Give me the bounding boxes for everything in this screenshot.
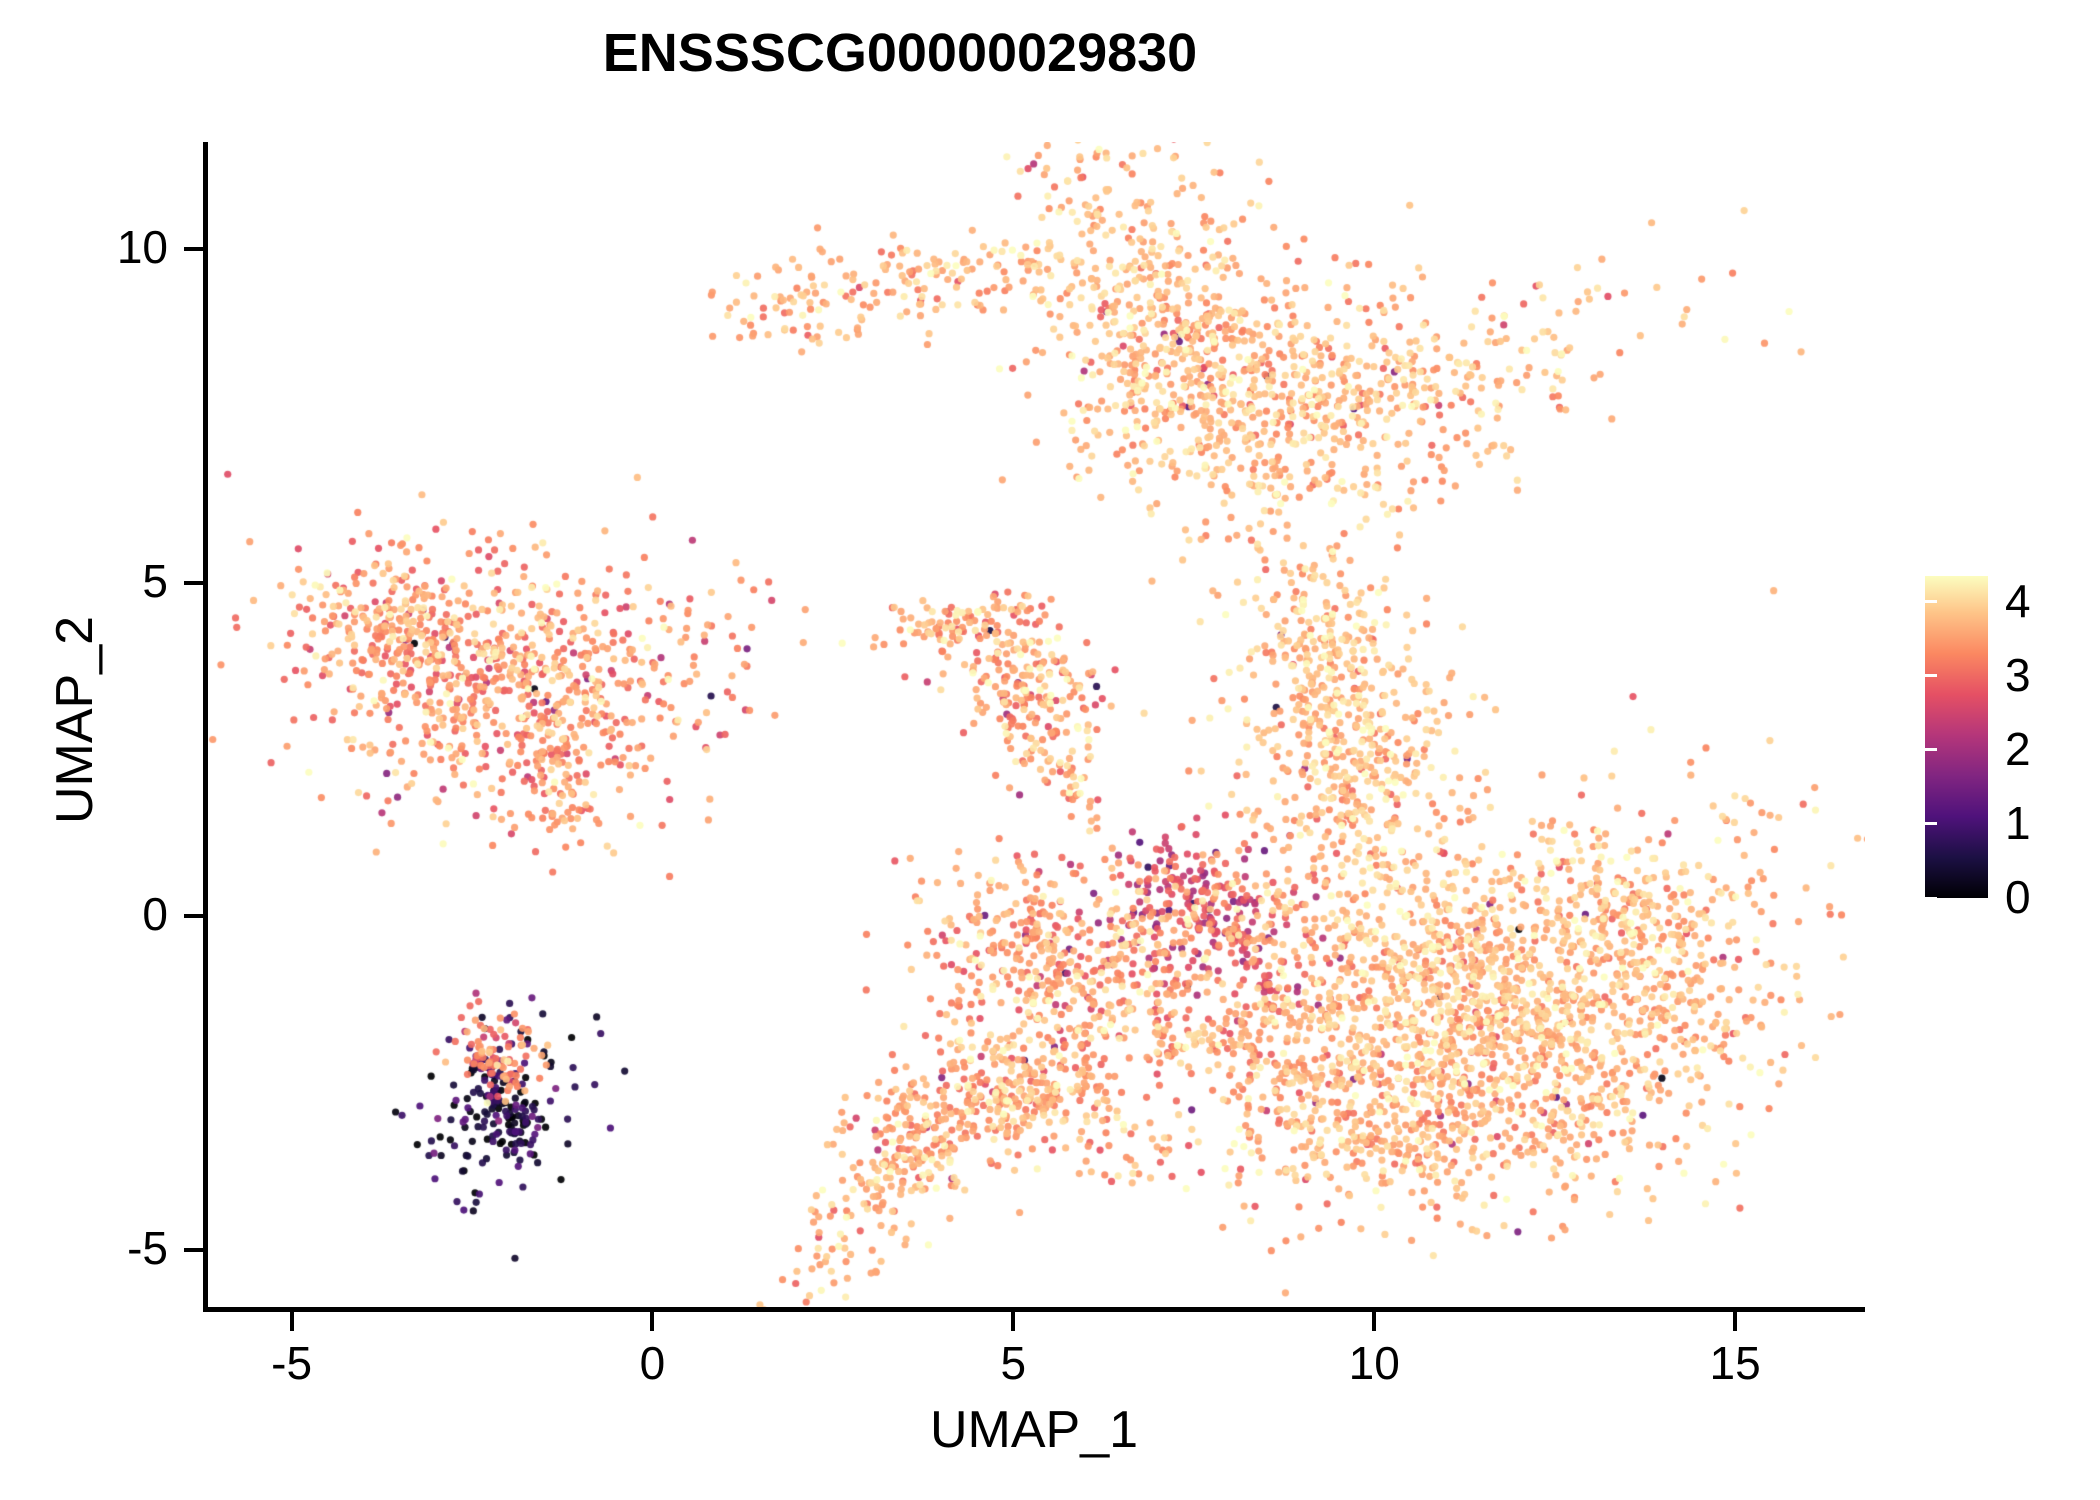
x-tick-label: -5 <box>212 1336 372 1390</box>
y-tick-mark <box>184 1248 203 1252</box>
y-tick-label: 10 <box>0 220 168 274</box>
x-axis-line <box>203 1307 1865 1312</box>
y-axis-line <box>203 142 208 1312</box>
plot-panel <box>205 142 1865 1310</box>
colorbar-tick-mark <box>2073 822 2085 825</box>
x-tick-label: 0 <box>572 1336 732 1390</box>
chart-page: ENSSSCG00000029830 -5051015 -50510 UMAP_… <box>0 0 2100 1500</box>
y-tick-mark <box>184 247 203 251</box>
colorbar-tick-mark <box>2073 600 2085 603</box>
colorbar-tick-mark <box>2073 674 2085 677</box>
x-axis-label: UMAP_1 <box>203 1400 1865 1460</box>
x-tick-label: 15 <box>1655 1336 1815 1390</box>
colorbar-gradient <box>1925 576 1988 898</box>
y-tick-label: -5 <box>0 1221 168 1275</box>
y-axis-label: UMAP_2 <box>45 370 105 1070</box>
colorbar-tick-mark <box>1925 822 1937 825</box>
colorbar-tick-label: 4 <box>2005 578 2031 624</box>
colorbar-tick-label: 1 <box>2005 800 2031 846</box>
colorbar-tick-label: 2 <box>2005 726 2031 772</box>
colorbar-tick-mark <box>2073 897 2085 900</box>
colorbar-tick-mark <box>2073 748 2085 751</box>
colorbar-tick-mark <box>1925 674 1937 677</box>
x-tick-mark <box>1733 1312 1737 1331</box>
x-tick-label: 10 <box>1294 1336 1454 1390</box>
colorbar-tick-mark <box>1925 897 1937 900</box>
colorbar-tick-mark <box>1925 748 1937 751</box>
x-tick-mark <box>650 1312 654 1331</box>
colorbar-tick-label: 0 <box>2005 874 2031 920</box>
x-tick-label: 5 <box>933 1336 1093 1390</box>
x-tick-mark <box>290 1312 294 1331</box>
page-title: ENSSSCG00000029830 <box>0 22 1800 84</box>
colorbar-tick-label: 3 <box>2005 652 2031 698</box>
scatter-canvas <box>205 142 1865 1310</box>
y-tick-mark <box>184 581 203 585</box>
colorbar-tick-mark <box>1925 600 1937 603</box>
x-tick-mark <box>1011 1312 1015 1331</box>
y-tick-mark <box>184 914 203 918</box>
x-tick-mark <box>1372 1312 1376 1331</box>
colorbar-legend: 01234 <box>1925 576 2085 906</box>
